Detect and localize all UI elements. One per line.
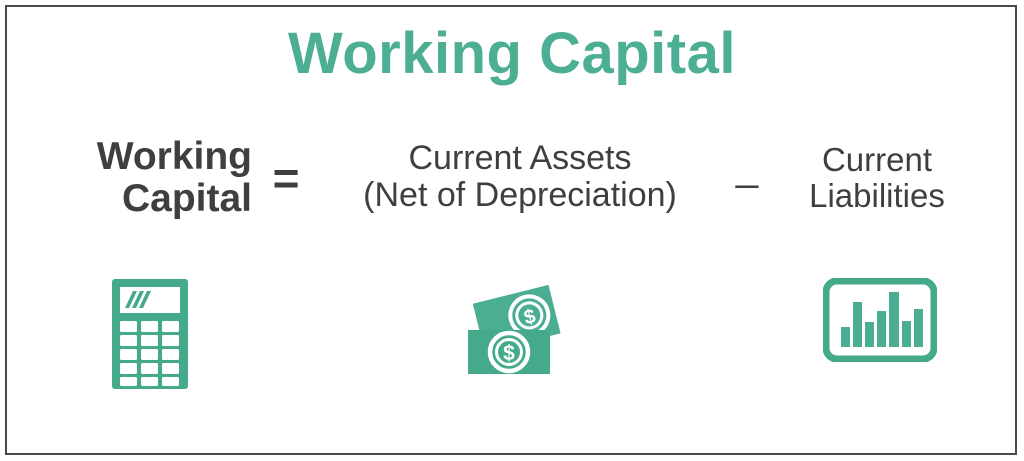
formula-term-current-assets-line1: Current Assets — [409, 139, 632, 177]
calculator-icon — [111, 278, 189, 390]
banknotes-dollar-icon-slot: $ $ — [440, 278, 590, 398]
formula-term-current-assets: Current Assets (Net of Depreciation) — [312, 140, 728, 213]
formula-term-current-liabilities-line2: Liabilities — [770, 178, 984, 214]
bar-chart-icon-slot — [805, 278, 955, 398]
bar-chart-icon — [823, 278, 937, 362]
formula-term-working-capital-line1: Working — [97, 135, 252, 178]
page-title: Working Capital — [0, 22, 1024, 87]
formula-term-current-liabilities: Current Liabilities — [770, 142, 984, 213]
banknotes-dollar-icon: $ $ — [460, 278, 570, 378]
formula-term-current-assets-line2: (Net of Depreciation) — [312, 177, 728, 214]
icon-row: $ $ — [0, 278, 1024, 398]
svg-text:$: $ — [503, 342, 515, 365]
formula-term-working-capital: Working Capital — [40, 136, 252, 220]
formula-row: Working Capital = Current Assets (Net of… — [0, 132, 1024, 240]
banknote-front: $ — [468, 330, 550, 374]
formula-term-working-capital-line2: Capital — [40, 178, 252, 220]
infographic-canvas: Working Capital Working Capital = Curren… — [0, 0, 1024, 461]
minus-operator: _ — [726, 146, 768, 189]
calculator-icon-slot — [75, 278, 225, 398]
formula-term-current-liabilities-line1: Current — [822, 141, 932, 178]
equals-operator: = — [262, 154, 310, 204]
